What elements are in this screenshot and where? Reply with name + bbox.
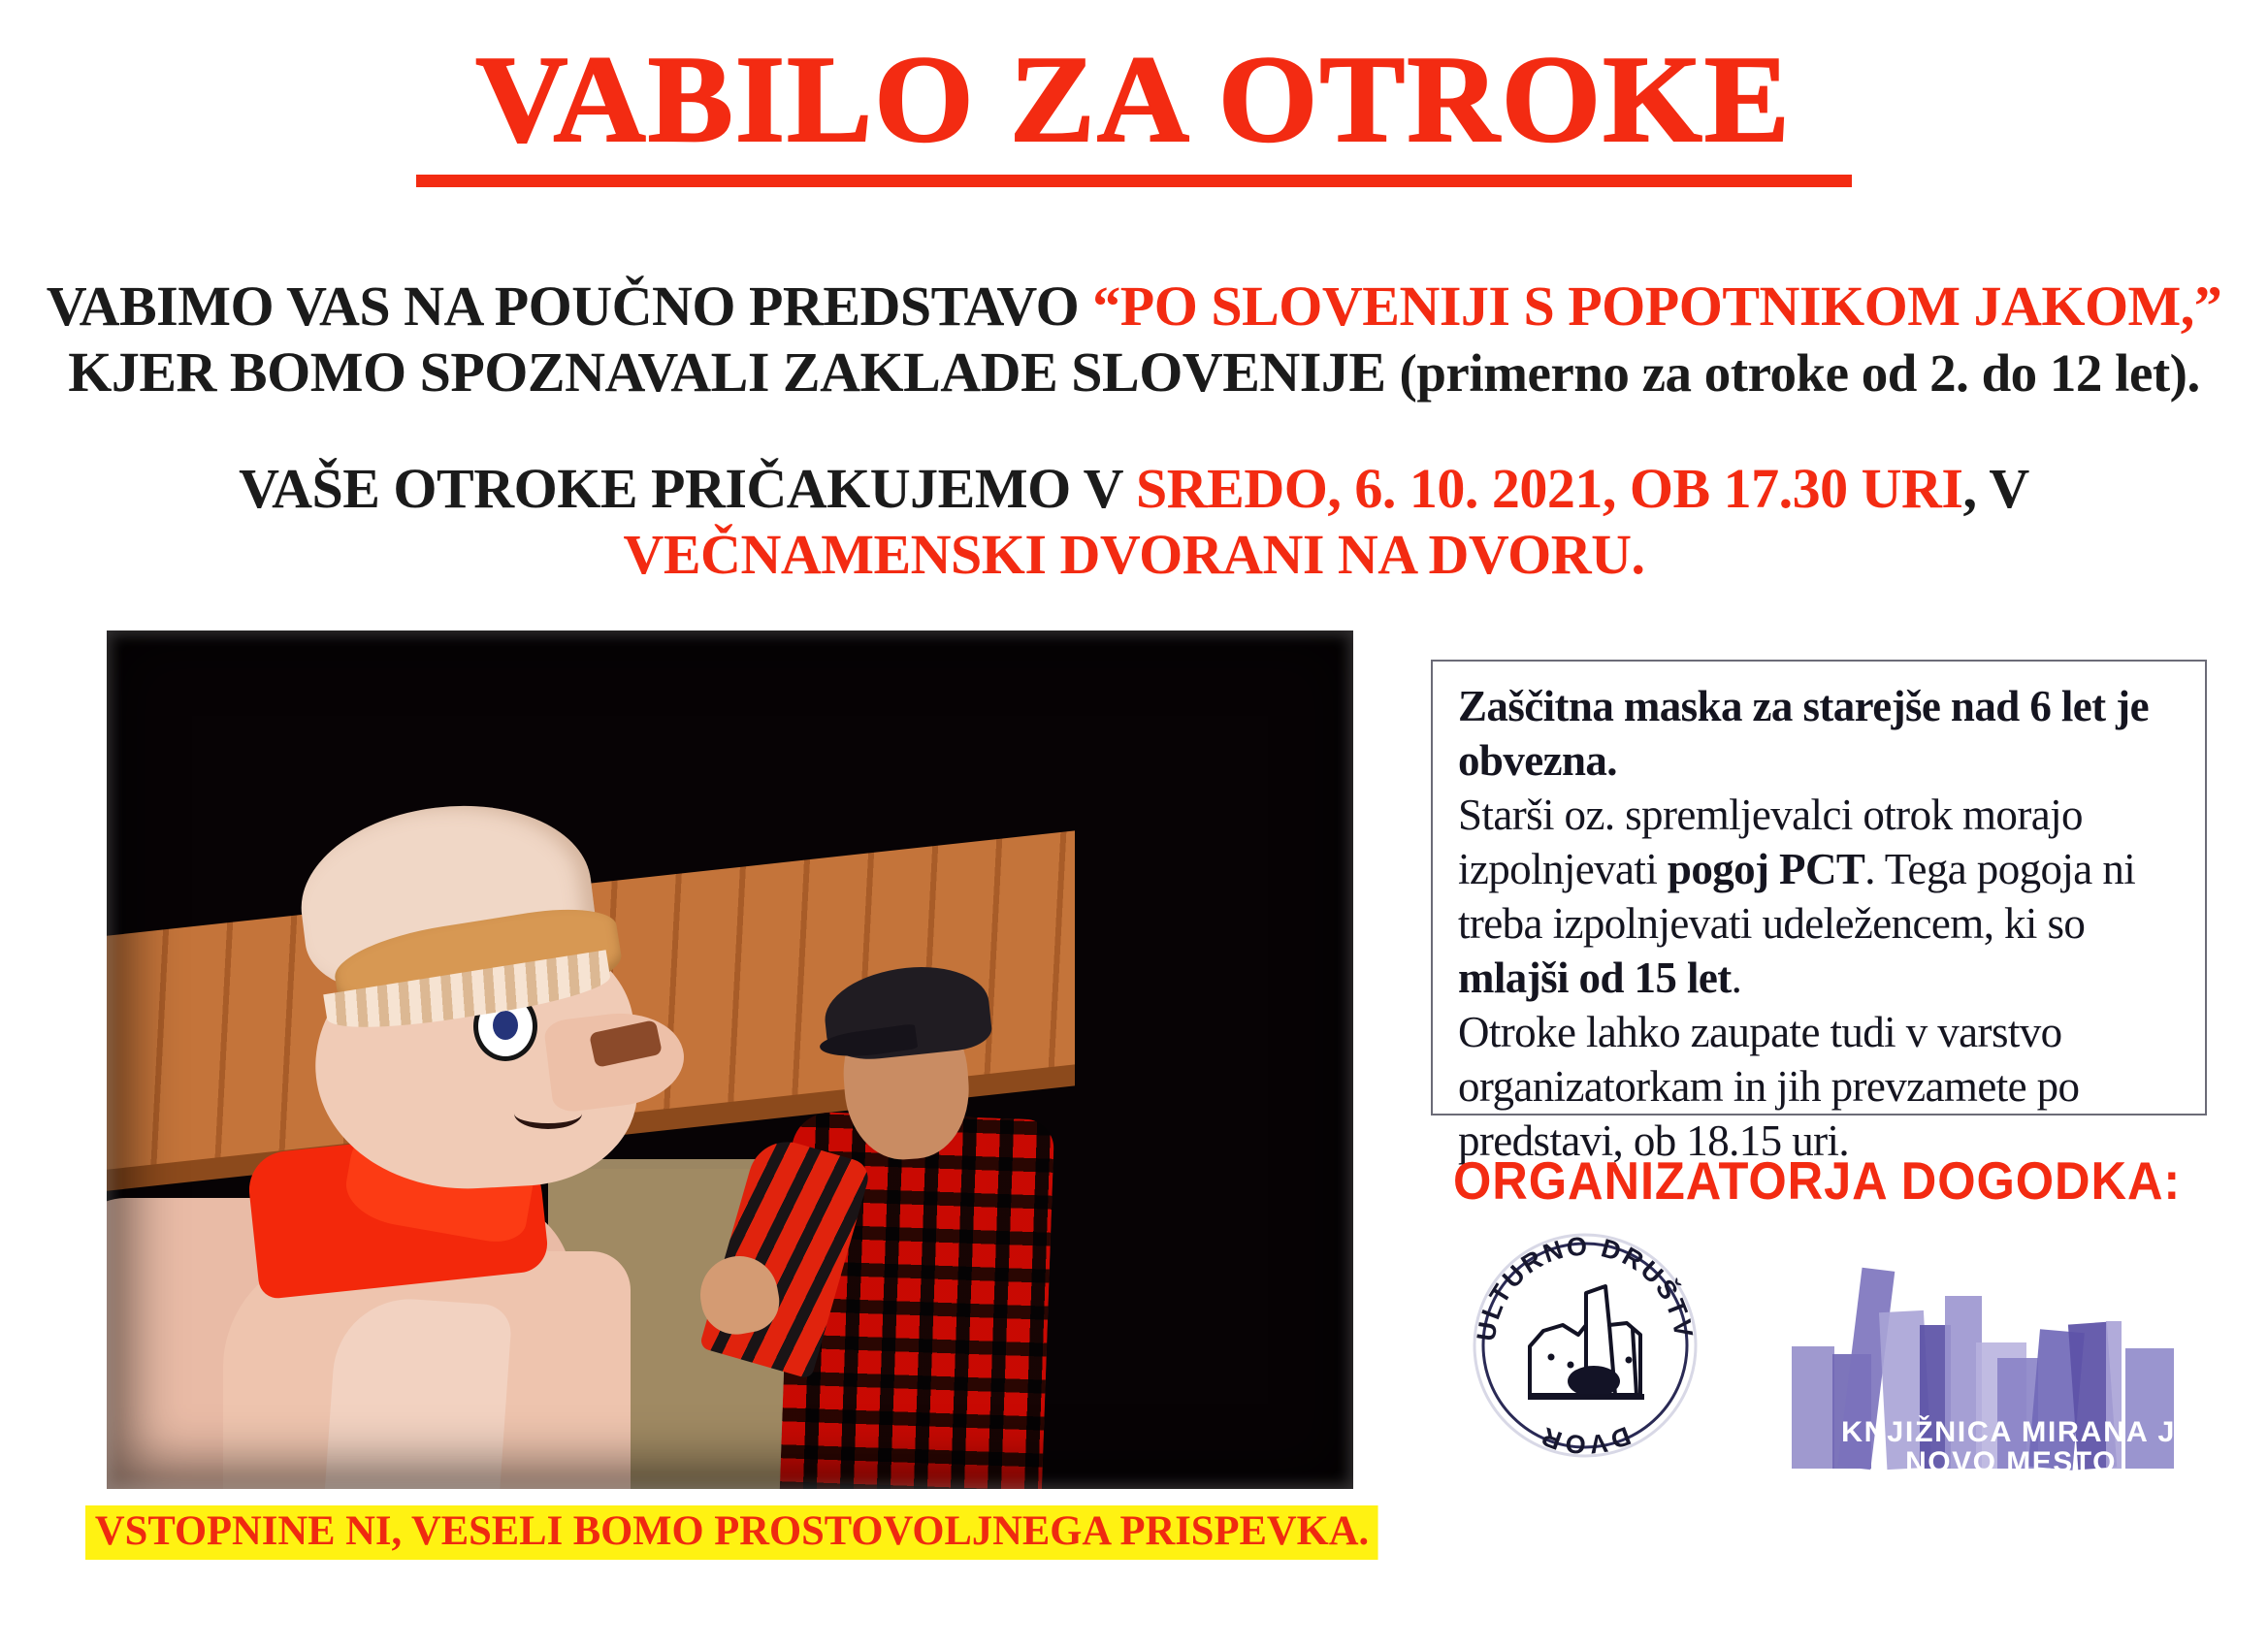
date-line-1-prefix: VAŠE OTROKE PRIČAKUJEMO V (239, 457, 1136, 520)
covid-notice-box: Zaščitna maska za starejše nad 6 let je … (1431, 660, 2207, 1115)
organizers-heading: ORGANIZATORJA DOGODKA: (1453, 1149, 2181, 1212)
notice-pct-paragraph: Starši oz. spremljevalci otrok morajo iz… (1458, 788, 2184, 1005)
kulturno-drustvo-dvor-logo: KULTURNO DRUŠTVO DVOR (1470, 1230, 1701, 1461)
page-title: VABILO ZA OTROKE (476, 37, 1793, 161)
library-logo-line1: KNJIŽNICA MIRANA JARCA (1841, 1415, 2178, 1448)
poster-header: VABILO ZA OTROKE (0, 37, 2268, 187)
event-datetime: SREDO, 6. 10. 2021, OB 17.30 URI (1136, 457, 1962, 520)
stamp-window (1568, 1362, 1574, 1369)
date-paragraph: VAŠE OTROKE PRIČAKUJEMO V SREDO, 6. 10. … (0, 456, 2268, 588)
show-title-text: “PO SLOVENIJI S POPOTNIKOM JAKOM,” (1092, 275, 2221, 338)
knjiznica-mirana-jarca-logo: KNJIŽNICA MIRANA JARCA NOVO MESTO (1790, 1261, 2178, 1489)
notice-bold-intro: Zaščitna maska za starejše nad 6 let je … (1458, 679, 2184, 788)
stamp-window (1626, 1357, 1633, 1364)
intro-line-2-prefix: KJER BOMO SPOZNAVALI ZAKLADE SLOVENIJE (68, 340, 1399, 404)
pct-text-e: . (1732, 954, 1742, 1002)
intro-paragraph: VABIMO VAS NA POUČNO PREDSTAVO “PO SLOVE… (0, 274, 2268, 406)
age-range-note: (primerno za otroke od 2. do 12 let). (1400, 343, 2200, 403)
pig-pupil (493, 1011, 518, 1040)
free-entry-note: VSTOPNINE NI, VESELI BOMO PROSTOVOLJNEGA… (85, 1505, 1378, 1560)
stamp-window (1548, 1354, 1555, 1361)
pig-mouth (514, 1098, 582, 1129)
date-line-2: VEČNAMENSKI DVORANI NA DVORU. (0, 522, 2268, 588)
pct-condition: pogoj PCT (1668, 845, 1864, 893)
date-line-1: VAŠE OTROKE PRIČAKUJEMO V SREDO, 6. 10. … (0, 456, 2268, 522)
age-exemption: mlajši od 15 let (1458, 954, 1732, 1002)
event-venue: VEČNAMENSKI DVORANI NA DVORU. (623, 523, 1644, 586)
performance-photo (107, 630, 1353, 1489)
stamp-castle-gate (1568, 1366, 1620, 1397)
title-underline-rule (416, 175, 1852, 187)
intro-line-1: VABIMO VAS NA POUČNO PREDSTAVO “PO SLOVE… (0, 274, 2268, 339)
date-line-1-suffix: , V (1962, 457, 2028, 520)
notice-childcare-paragraph: Otroke lahko zaupate tudi v varstvo orga… (1458, 1005, 2184, 1168)
library-logo-line2: NOVO MESTO (1905, 1446, 2117, 1478)
intro-line-2: KJER BOMO SPOZNAVALI ZAKLADE SLOVENIJE (… (0, 339, 2268, 406)
mask-requirement-text: Zaščitna maska za starejše nad 6 let je … (1458, 682, 2149, 785)
intro-line-1-prefix: VABIMO VAS NA POUČNO PREDSTAVO (47, 275, 1093, 338)
